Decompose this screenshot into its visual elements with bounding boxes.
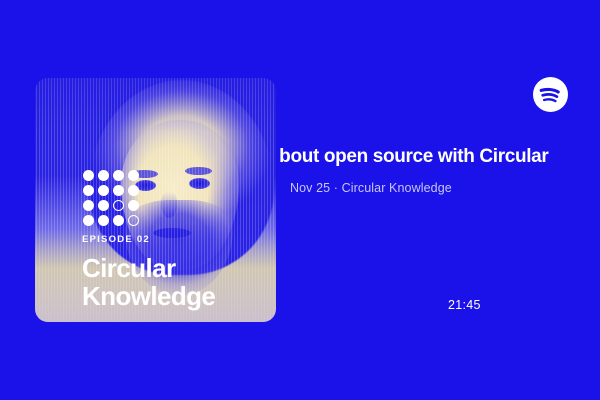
dot-grid-cell [113, 185, 124, 196]
dot-grid-cell [128, 200, 139, 211]
artwork-episode-label: EPISODE 02 [82, 234, 276, 245]
dot-grid-cell-ring [113, 200, 124, 211]
spotify-logo-icon[interactable] [533, 77, 568, 112]
artwork-text-block: EPISODE 02 Circular Knowledge [82, 234, 276, 310]
podcast-artwork[interactable]: EPISODE 02 Circular Knowledge [35, 78, 276, 322]
dot-grid-cell [98, 215, 109, 226]
portrait-eye-right [189, 178, 210, 189]
dot-grid-cell [98, 200, 109, 211]
episode-title: Opening up about open source with Circul… [280, 146, 548, 168]
dot-grid-cell [128, 170, 139, 181]
dot-grid-cell [113, 170, 124, 181]
dot-grid-cell [83, 215, 94, 226]
artwork-show-title-line1: Circular [82, 253, 175, 283]
dot-grid-icon [83, 170, 139, 226]
dot-grid-cell [98, 185, 109, 196]
podcast-episode-card: EPISODE 02 Circular Knowledge Opening up… [0, 0, 600, 400]
portrait-brow-right [185, 167, 212, 175]
dot-grid-cell [83, 170, 94, 181]
dot-grid-cell [83, 185, 94, 196]
dot-grid-cell [83, 200, 94, 211]
dot-grid-cell-ring [128, 215, 139, 226]
episode-meta: Nov 25 · Circular Knowledge [290, 181, 452, 195]
dot-grid-cell [128, 185, 139, 196]
episode-info-panel: Opening up about open source with Circul… [280, 140, 600, 210]
artwork-show-title-line2: Knowledge [82, 282, 276, 310]
artwork-show-title: Circular Knowledge [82, 254, 276, 310]
dot-grid-cell [98, 170, 109, 181]
episode-duration: 21:45 [448, 298, 481, 312]
dot-grid-cell [113, 215, 124, 226]
